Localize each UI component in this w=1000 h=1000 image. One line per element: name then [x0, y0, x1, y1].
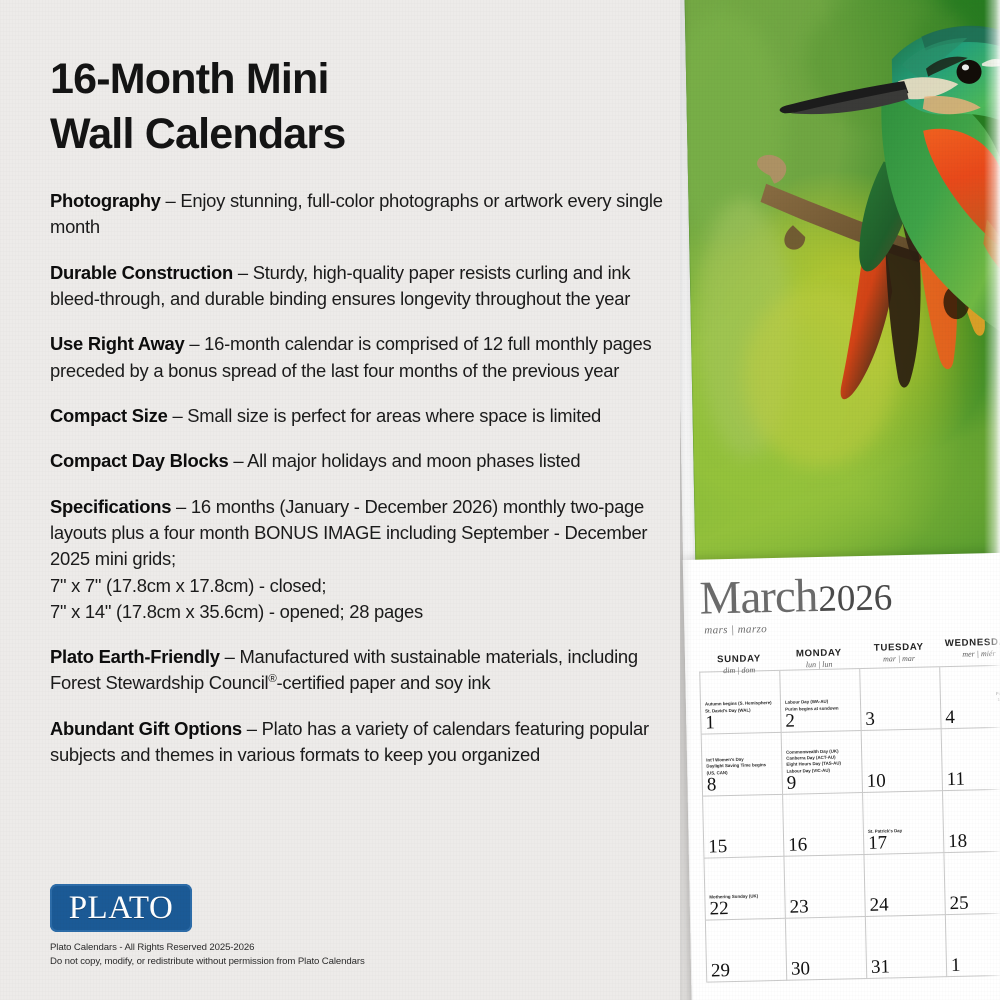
calendar-day-number: 1 — [951, 956, 961, 975]
calendar-day-cell: Autumn begins (S. Hemisphere)St. David's… — [700, 671, 781, 735]
calendar-day-header: WEDNESDAYmer | miér — [939, 636, 1000, 662]
feature-item: Compact Size – Small size is perfect for… — [50, 403, 675, 429]
plato-logo-text: PLATO — [69, 892, 174, 925]
calendar-day-number: 3 — [865, 710, 875, 729]
feature-body: – All major holidays and moon phases lis… — [228, 450, 580, 471]
calendar-day-cell: 18 — [943, 789, 1000, 853]
calendar-holiday-note: Labour Day (VIC-AU) — [786, 767, 858, 775]
march-2026-calendar-page: March 2026 mars | marzo SUNDAYdim | domM… — [683, 552, 1000, 1000]
calendar-day-cell: 25 — [944, 851, 1000, 915]
copyright-line-1: Plato Calendars - All Rights Reserved 20… — [50, 941, 365, 955]
day-header-translation: mar | mar — [859, 653, 939, 664]
calendar-day-cell: Full Moon11:38 ET○4 — [940, 665, 1000, 729]
calendar-holiday-note: St. David's Day (WAL) — [705, 707, 777, 715]
feature-lead: Compact Size — [50, 405, 168, 426]
feature-item: Compact Day Blocks – All major holidays … — [50, 448, 675, 474]
page-title-line-1: 16-Month Mini — [50, 52, 675, 107]
feature-lead: Compact Day Blocks — [50, 450, 228, 471]
calendar-day-number: 4 — [945, 708, 955, 727]
moon-phase-label: Full Moon — [996, 691, 1000, 696]
day-header-name: MONDAY — [779, 647, 859, 660]
day-header-translation: lun | lun — [779, 659, 859, 670]
calendar-day-cell: 15 — [703, 795, 784, 859]
calendar-day-cell: 30 — [786, 917, 867, 981]
calendar-holiday-note: (US, CAN) — [706, 769, 778, 777]
page-title-line-2: Wall Calendars — [50, 107, 675, 162]
calendar-day-grid: Autumn begins (S. Hemisphere)St. David's… — [699, 664, 1000, 983]
feature-item: Specifications – 16 months (January - De… — [50, 494, 675, 626]
calendar-day-cell: St. Patrick's Day17 — [863, 791, 944, 855]
calendar-day-cell: Int'l Women's DayDaylight Saving Time be… — [702, 733, 783, 797]
calendar-day-cell: Labour Day (WA-AU)Purim begins at sundow… — [780, 669, 861, 733]
specification-line: 7" x 7" (17.8cm x 17.8cm) - closed; — [50, 573, 675, 599]
product-marketing-page: 16-Month Mini Wall Calendars Photography… — [0, 0, 1000, 1000]
calendar-day-number: 1 — [705, 713, 715, 732]
calendar-day-number: 18 — [948, 832, 967, 851]
feature-item: Use Right Away – 16-month calendar is co… — [50, 331, 675, 384]
calendar-header: March 2026 — [699, 568, 1000, 623]
calendar-day-number: 8 — [707, 775, 717, 794]
calendar-day-cell: 29 — [706, 919, 787, 983]
product-photo-panel: March 2026 mars | marzo SUNDAYdim | domM… — [680, 0, 1000, 1000]
calendar-day-number: 15 — [708, 837, 727, 856]
calendar-day-cell: Mothering Sunday (UK)22 — [704, 857, 785, 921]
feature-item: Plato Earth-Friendly – Manufactured with… — [50, 644, 675, 697]
calendar-day-number: 29 — [711, 961, 730, 980]
feature-list: Photography – Enjoy stunning, full-color… — [50, 188, 675, 768]
calendar-year: 2026 — [818, 579, 893, 618]
copyright-notice: Plato Calendars - All Rights Reserved 20… — [50, 941, 365, 969]
feature-lead: Abundant Gift Options — [50, 718, 242, 739]
calendar-day-number: 22 — [709, 899, 728, 918]
hummingbird-illustration — [684, 0, 1000, 575]
calendar-day-number: 16 — [788, 835, 807, 854]
feature-lead: Specifications — [50, 496, 171, 517]
calendar-day-headers: SUNDAYdim | domMONDAYlun | lunTUESDAYmar… — [699, 636, 1000, 668]
calendar-day-cell: 16 — [783, 793, 864, 857]
specification-line: 7" x 14" (17.8cm x 35.6cm) - opened; 28 … — [50, 599, 675, 625]
calendar-day-number: 9 — [787, 774, 797, 793]
calendar-day-cell: 11 — [942, 727, 1000, 791]
page-title: 16-Month Mini Wall Calendars — [50, 52, 675, 162]
calendar-day-header: TUESDAYmar | mar — [859, 641, 940, 667]
hummingbird-photograph — [684, 0, 1000, 575]
calendar-day-number: 31 — [871, 957, 890, 976]
feature-lead: Photography — [50, 190, 161, 211]
day-header-name: WEDNESDAY — [939, 636, 1000, 649]
day-header-name: SUNDAY — [699, 653, 779, 666]
calendar-day-notes: Commonwealth Day (UK)Canberra Day (ACT-A… — [786, 748, 859, 775]
day-header-translation: mer | miér — [939, 648, 1000, 659]
feature-item: Abundant Gift Options – Plato has a vari… — [50, 716, 675, 769]
feature-lead: Use Right Away — [50, 333, 184, 354]
day-header-name: TUESDAY — [859, 641, 939, 654]
calendar-day-number: 11 — [947, 770, 966, 789]
specification-dimensions: 7" x 7" (17.8cm x 17.8cm) - closed;7" x … — [50, 573, 675, 626]
calendar-day-cell: Commonwealth Day (UK)Canberra Day (ACT-A… — [782, 731, 863, 795]
calendar-day-notes: Labour Day (WA-AU)Purim begins at sundow… — [785, 698, 857, 712]
calendar-day-cell: 23 — [784, 855, 865, 919]
calendar-day-number: 25 — [949, 894, 968, 913]
calendar-day-notes: Int'l Women's DayDaylight Saving Time be… — [706, 756, 778, 777]
full-moon-icon: ○ — [996, 702, 1000, 709]
calendar-day-cell: 1 — [946, 913, 1000, 977]
calendar-day-number: 30 — [791, 959, 810, 978]
brand-footer: PLATO Plato Calendars - All Rights Reser… — [50, 884, 365, 969]
marketing-copy-column: 16-Month Mini Wall Calendars Photography… — [50, 52, 675, 787]
calendar-day-number: 24 — [869, 895, 888, 914]
calendar-day-cell: 10 — [862, 729, 943, 793]
calendar-day-notes: Autumn begins (S. Hemisphere)St. David's… — [705, 700, 777, 714]
calendar-day-number: 23 — [789, 897, 808, 916]
calendar-day-number: 2 — [785, 712, 795, 731]
calendar-day-cell: 31 — [866, 915, 947, 979]
calendar-holiday-note: Purim begins at sundown — [785, 705, 857, 713]
calendar-month-name: March — [699, 573, 818, 623]
calendar-day-cell: 24 — [864, 853, 945, 917]
feature-lead: Plato Earth-Friendly — [50, 646, 220, 667]
feature-lead: Durable Construction — [50, 262, 233, 283]
feature-item: Photography – Enjoy stunning, full-color… — [50, 188, 675, 241]
registered-trademark-symbol: ® — [268, 673, 276, 685]
calendar-day-number: 17 — [868, 833, 887, 852]
calendar-day-cell: 3 — [860, 667, 941, 731]
moon-phase-marker: Full Moon11:38 ET○ — [996, 691, 1000, 709]
plato-logo: PLATO — [50, 884, 192, 932]
feature-body: – Small size is perfect for areas where … — [168, 405, 601, 426]
copyright-line-2: Do not copy, modify, or redistribute wit… — [50, 955, 365, 969]
feature-item: Durable Construction – Sturdy, high-qual… — [50, 260, 675, 313]
calendar-day-number: 10 — [867, 771, 886, 790]
